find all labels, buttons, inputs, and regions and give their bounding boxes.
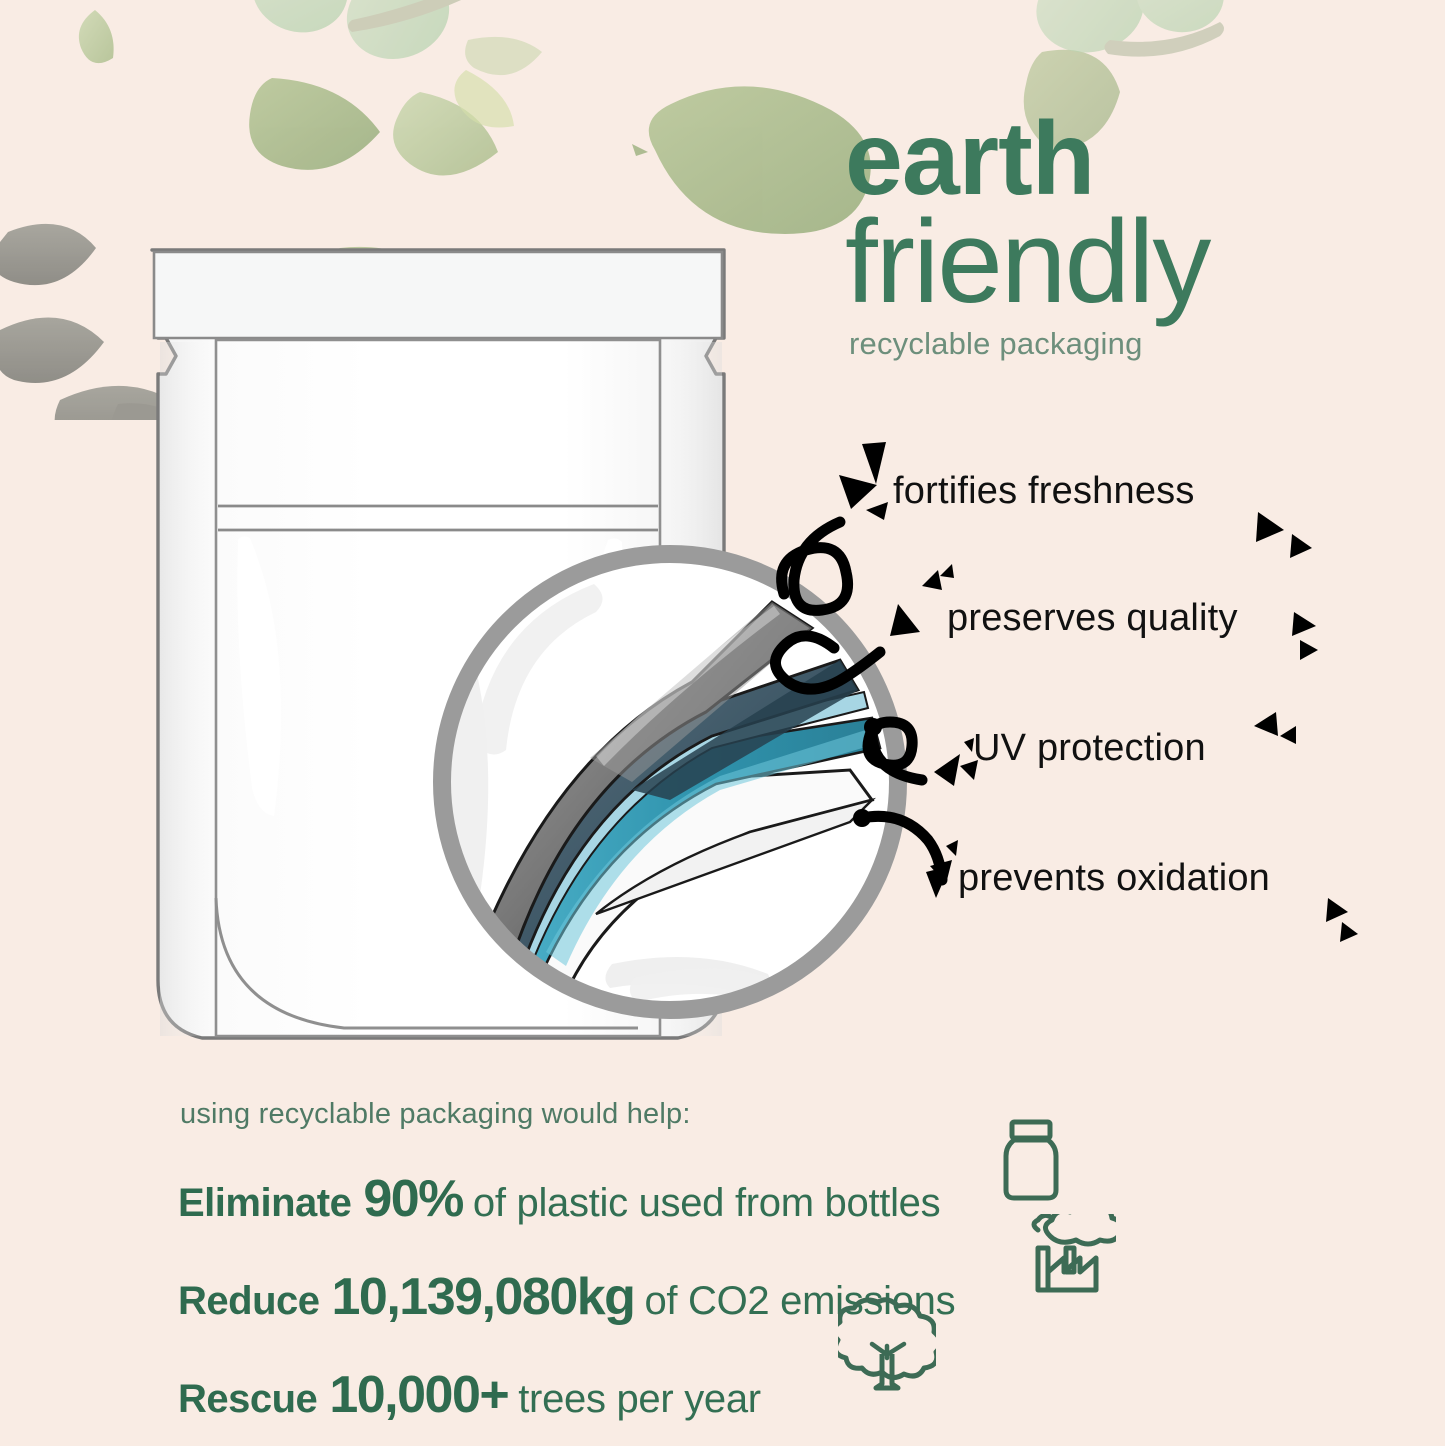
stat-value: 10,000+ xyxy=(329,1365,508,1425)
feature-label-fortifies-freshness: fortifies freshness xyxy=(893,470,1195,513)
headline-subtitle: recyclable packaging xyxy=(849,326,1405,362)
curved-arrow-icon xyxy=(926,866,950,898)
feature-label-prevents-oxidation: prevents oxidation xyxy=(958,857,1270,900)
feature-label-uv-protection: UV protection xyxy=(973,727,1206,770)
curved-arrow-icon xyxy=(934,754,960,786)
stat-tail: trees per year xyxy=(518,1377,761,1422)
stat-verb: Reduce xyxy=(178,1279,320,1324)
stat-row: Reduce 10,139,080kg of CO2 emissions xyxy=(178,1267,1278,1327)
stats-block: using recyclable packaging would help: E… xyxy=(178,1098,1278,1446)
stat-verb: Eliminate xyxy=(178,1181,351,1226)
stat-row: Rescue 10,000+ trees per year xyxy=(178,1365,1278,1425)
feature-label-preserves-quality: preserves quality xyxy=(947,597,1238,640)
stats-lead-in: using recyclable packaging would help: xyxy=(180,1098,1278,1131)
headline-line-earth: earth xyxy=(845,112,1405,208)
stat-verb: Rescue xyxy=(178,1377,317,1422)
stat-row: Eliminate 90% of plastic used from bottl… xyxy=(178,1169,1278,1229)
headline-block: earth friendly recyclable packaging xyxy=(845,112,1405,362)
stat-value: 10,139,080kg xyxy=(332,1267,635,1327)
earth-friendly-infographic: fortifies freshness preserves quality UV… xyxy=(0,0,1445,1446)
stat-value: 90% xyxy=(363,1169,463,1229)
stat-tail: of CO2 emissions xyxy=(644,1279,955,1324)
stat-tail: of plastic used from bottles xyxy=(473,1181,940,1226)
curved-arrow-icon xyxy=(839,475,877,509)
pouch-top-seal xyxy=(154,252,722,338)
headline-line-friendly: friendly xyxy=(845,208,1405,317)
magnified-film-layers xyxy=(420,532,920,1032)
